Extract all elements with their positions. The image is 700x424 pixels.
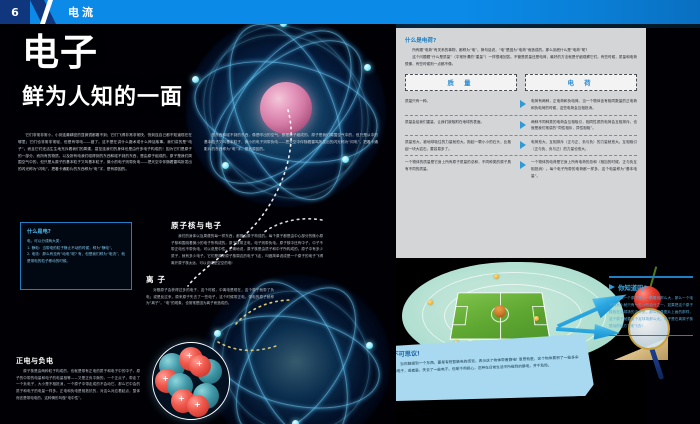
page-subtitle: 鲜为人知的一面	[22, 79, 183, 111]
nucleus-model	[494, 305, 506, 317]
nucleus-section-body: 我们的身体以及周遭的每一样东西，都是由原子构成的。每个原子都是由中心部分的微小原…	[171, 233, 323, 267]
electron-orbit	[174, 24, 396, 219]
arrow-right-icon	[520, 161, 526, 169]
electron-dot	[292, 420, 299, 424]
what-is-electricity-line: 1. 静电：当带电的粒子静止不动的时候，称为“静电”。	[27, 245, 125, 252]
nucleus-section: 原子核与电子 我们的身体以及周遭的每一样东西，都是由原子构成的。每个原子都是由中…	[171, 220, 323, 267]
electron-orbit-dot	[494, 274, 499, 279]
arrow-right-icon	[609, 284, 615, 290]
nucleus-sphere	[260, 82, 312, 134]
electron-orbit-dot	[428, 300, 433, 305]
charge-panel-heading: 什么是电荷?	[405, 36, 637, 44]
electron-dot	[192, 76, 199, 83]
divider-top	[609, 276, 693, 278]
row-mass-cell: 质量会给我们重量，让我们被吸附在地球的表面。	[405, 119, 511, 132]
arrow-right-icon	[520, 121, 526, 129]
what-is-electricity-line: 2. 电流：那么有没有“动电”呢? 有，但是我们称为“电流”，就是带电的粒子移动…	[27, 251, 125, 264]
headline-group: 电子 鲜为人知的一面	[22, 34, 183, 111]
table-row: 质量会给我们重量，让我们被吸附在地球的表面。 两种不同种类的电荷会互相吸引，相同…	[405, 115, 637, 135]
positive-negative-section: 正电与负电 原子核是由两种粒子构成的，也就是带有正电的质子和电子中的中子。原子的…	[16, 356, 140, 402]
arrow-right-icon	[520, 141, 526, 149]
row-charge-cell: 一个物体的电荷是它身上所有电荷的总和（相加的时候，正与负互相抵消）。每个电子所带…	[519, 159, 637, 179]
comparison-header-row: 质 量 电 荷	[405, 74, 637, 91]
intro-columns: 它们非常非常小，小到连最精密的显微镜都看不到；它们飞得非常非常快，快到连自己都不…	[18, 132, 378, 173]
row-mass-text: 质量只有一种。	[405, 98, 511, 105]
comparison-column-charge-label: 电 荷	[567, 78, 594, 87]
row-mass-text: 质量会给我们重量，让我们被吸附在地球的表面。	[405, 119, 511, 126]
nucleus-closeup-illustration: + + + + +	[152, 342, 230, 420]
electron-orbit	[206, 24, 365, 216]
row-charge-cell: 电荷愈大，互相排斥（正与正、负与负）的力量就愈大。互相吸引（正与负、负与正）的力…	[519, 139, 637, 152]
positive-negative-heading: 正电与负电	[16, 356, 140, 366]
charge-panel-intro-p2: 这个问题跟“什么是质量”（平常所谓的“重量”）一样很难回答。不管是质量还是电荷，…	[405, 54, 637, 68]
comparison-column-mass-label: 质 量	[447, 78, 474, 87]
arrow-right-icon	[520, 100, 526, 108]
charge-panel: 什么是电荷? 所有跟“电荷”有关系的事物，都称为“电”。换句话说，“电”是因为“…	[396, 28, 646, 258]
page-header-banner: 6 电流	[0, 0, 700, 24]
did-you-know-sidebar: 你知道吗? 如果一个原子放大一颗樱桃那么大，那么一个电子的大小就只有一粒沙的百分…	[609, 276, 693, 336]
electron-orbit	[184, 24, 386, 210]
comparison-column-mass: 质 量	[405, 74, 517, 91]
row-mass-text: 一个物体的质量是它身上所有原子质量的总和，不同种类的原子具有不同的质量。	[405, 159, 511, 172]
plus-sign: +	[194, 401, 201, 409]
wow-banner: 不可思议! 当你触摸到一个东西，要是有短暂触电的感觉，表示这个物体带着静电! 意…	[396, 334, 594, 404]
comparison-rows: 质量只有一种。 电荷有两种，正电荷和负电荷。当一个物体含有相同数量的正电荷和负电…	[405, 95, 637, 182]
table-row: 质量愈大，被地球吸住的力量就愈大。抱起一颗小小的石头，比抱起一块大岩石，要容易多…	[405, 135, 637, 155]
plus-sign: +	[162, 375, 169, 383]
electron-dot	[364, 64, 371, 71]
nucleus-section-heading: 原子核与电子	[171, 220, 323, 231]
electron-orbit	[185, 24, 386, 220]
charge-panel-intro: 所有跟“电荷”有关系的事物，都称为“电”。换句话说，“电”是因为“电荷”而造成的…	[405, 47, 637, 67]
banner-gradient	[460, 0, 700, 24]
row-mass-text: 质量愈大，被地球吸住的力量就愈大。抱起一颗小小的石头，比抱起一块大岩石，要容易多…	[405, 139, 511, 152]
what-is-electricity-line: 电，可以分成两大类：	[27, 238, 125, 245]
what-is-electricity-box: 什么是电? 电，可以分成两大类： 1. 静电：当带电的粒子静止不动的时候，称为“…	[20, 222, 132, 290]
divider-bottom	[609, 335, 693, 337]
row-charge-cell: 电荷有两种，正电荷和负电荷。当一个物体含有相同数量的正电荷和负电荷的时候，这些电…	[519, 98, 637, 111]
electron-orbit	[194, 24, 378, 216]
table-row: 质量只有一种。 电荷有两种，正电荷和负电荷。当一个物体含有相同数量的正电荷和负电…	[405, 95, 637, 114]
ion-section-heading: 离子	[146, 274, 274, 285]
row-charge-text: 一个物体的电荷是它身上所有电荷的总和（相加的时候，正与负互相抵消）。每个电子所带…	[531, 159, 637, 179]
panel-shadow	[396, 258, 649, 261]
table-row: 一个物体的质量是它身上所有原子质量的总和，不同种类的原子具有不同的质量。 一个物…	[405, 155, 637, 182]
electron-dot	[366, 342, 373, 349]
page-number: 6	[11, 6, 19, 19]
section-title: 电流	[68, 4, 96, 20]
row-charge-text: 电荷愈大，互相排斥（正与正、负与负）的力量就愈大。互相吸引（正与负、负与正）的力…	[531, 139, 637, 152]
row-charge-text: 两种不同种类的电荷会互相吸引，相同性质的电荷会互相排斥，也就是我们常讲的“同性相…	[531, 119, 637, 132]
row-charge-cell: 两种不同种类的电荷会互相吸引，相同性质的电荷会互相排斥，也就是我们常讲的“同性相…	[519, 119, 637, 132]
row-mass-cell: 质量只有一种。	[405, 98, 511, 111]
plus-sign: +	[186, 352, 193, 360]
what-is-electricity-heading: 什么是电?	[27, 228, 125, 235]
did-you-know-body: 如果一个原子放大一颗樱桃那么大，那么一个电子的大小就只有一粒沙的百分之一。如果把…	[609, 295, 693, 330]
charge-panel-intro-p1: 所有跟“电荷”有关系的事物，都称为“电”。换句话说，“电”是因为“电荷”而造成的…	[405, 47, 637, 54]
row-mass-cell: 一个物体的质量是它身上所有原子质量的总和，不同种类的原子具有不同的质量。	[405, 159, 511, 179]
atom-glow	[186, 24, 386, 207]
positive-negative-body: 原子核是由两种粒子构成的，也就是带有正电的质子和电子中的中子。原子的中带的电量和…	[16, 368, 140, 402]
electron-dot	[214, 330, 221, 337]
wow-banner-body: 当你触摸到一个东西，要是有短暂触电的感觉，表示这个物体带着静电! 意思就是，这个…	[396, 354, 579, 376]
comparison-column-charge: 电 荷	[525, 74, 637, 91]
penalty-box-line	[532, 306, 544, 307]
did-you-know-header: 你知道吗?	[609, 283, 693, 292]
penalty-box-line	[465, 306, 468, 325]
penalty-box-line	[534, 324, 547, 325]
ion-section: 离子 对照原子会获得过多的电子，这个时候，中离电是现在，这个原子就带了负电；或是…	[146, 274, 274, 307]
intro-column-1: 它们非常非常小，小到连最精密的显微镜都看不到；它们飞得非常非常快，快到连自己都不…	[18, 132, 192, 173]
plus-sign: +	[178, 395, 185, 403]
electron-dot	[280, 24, 287, 27]
intro-column-2: 的东西和碰不到的东西，像是呼出的空气，那是原子组成的。原子是我们周围空气中的，但…	[204, 132, 378, 173]
row-charge-text: 电荷有两种，正电荷和负电荷。当一个物体含有相同数量的正电荷和负电荷的时候，这些电…	[531, 98, 637, 111]
ion-section-body: 对照原子会获得过多的电子，这个时候，中离电是现在，这个原子就带了负电；或是反过来…	[146, 287, 274, 307]
left-page: 电子 鲜为人知的一面 它们非常非常小，小到连最精密的显微镜都看不到；它们飞得非常…	[0, 24, 396, 424]
plus-sign: +	[196, 360, 203, 368]
magazine-page: 6 电流	[0, 0, 700, 424]
electron-orbit-dot	[534, 316, 539, 321]
atom-illustration-top	[178, 24, 393, 212]
page-number-box: 6	[0, 0, 30, 24]
did-you-know-heading: 你知道吗?	[618, 283, 647, 292]
row-mass-cell: 质量愈大，被地球吸住的力量就愈大。抱起一颗小小的石头，比抱起一块大岩石，要容易多…	[405, 139, 511, 152]
electron-orbit	[204, 301, 389, 422]
page-title: 电子	[22, 34, 183, 73]
